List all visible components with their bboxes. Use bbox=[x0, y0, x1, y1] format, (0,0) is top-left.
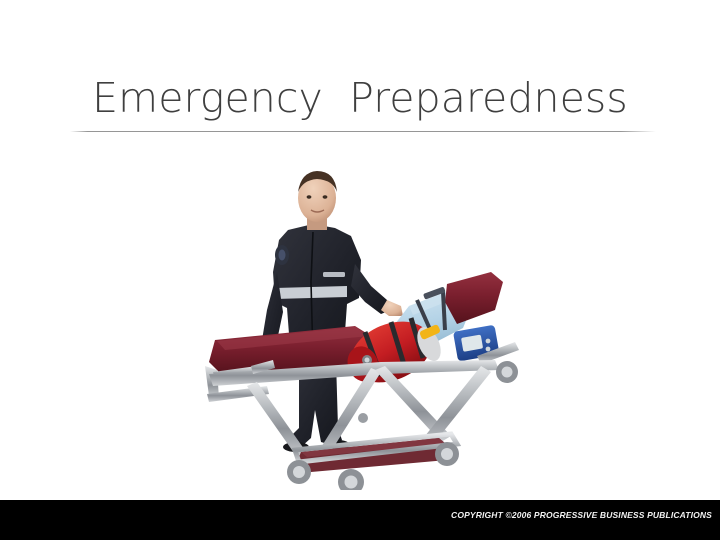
emergency-stretcher-photo bbox=[195, 160, 525, 490]
title-placeholder: Emergency Preparedness bbox=[60, 68, 660, 128]
emt-eye-left bbox=[307, 195, 312, 198]
title-divider bbox=[70, 131, 656, 132]
name-tape bbox=[323, 272, 345, 277]
monitor-knob-1 bbox=[486, 339, 491, 344]
copyright-notice: COPYRIGHT ©2006 PROGRESSIVE BUSINESS PUB… bbox=[451, 510, 712, 520]
page-title: Emergency Preparedness bbox=[92, 78, 628, 119]
restraint-strap-2 bbox=[443, 292, 445, 330]
slide-canvas: Emergency Preparedness bbox=[0, 0, 720, 540]
emt-eye-right bbox=[323, 195, 328, 198]
stretcher-illustration bbox=[195, 160, 525, 490]
shoulder-patch-inner bbox=[279, 250, 286, 261]
monitor-knob-2 bbox=[486, 347, 491, 352]
xframe-pivot bbox=[358, 413, 368, 423]
footer-bar: COPYRIGHT ©2006 PROGRESSIVE BUSINESS PUB… bbox=[0, 500, 720, 540]
